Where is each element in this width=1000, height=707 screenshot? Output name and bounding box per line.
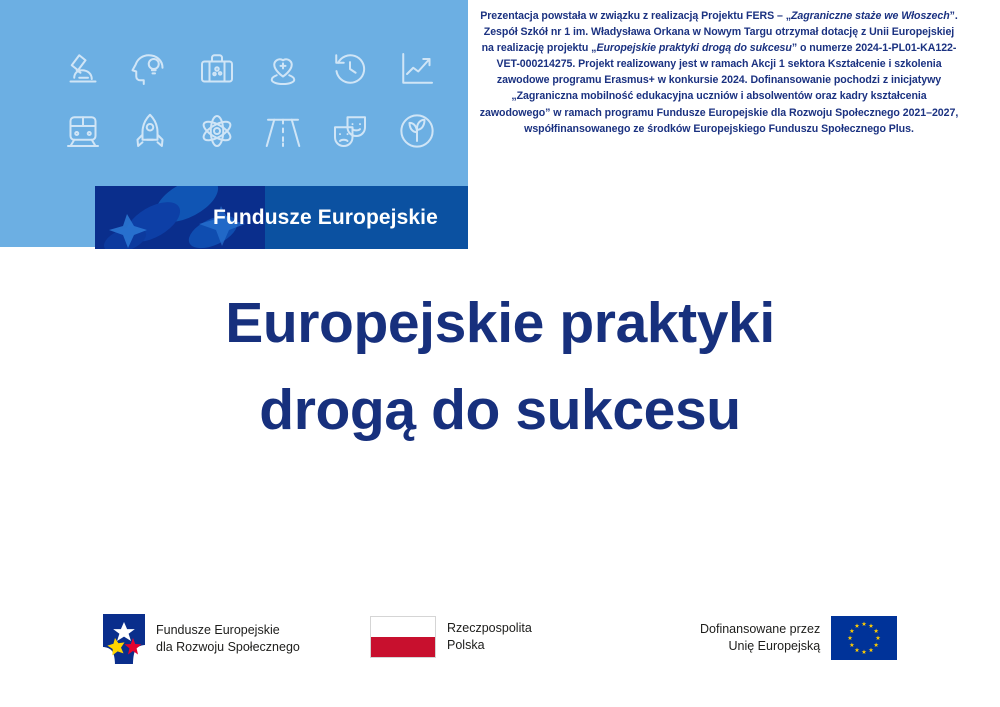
rocket-icon [130,111,170,151]
microscope-icon [63,49,103,89]
footer-logo-strip: Fundusze Europejskie dla Rozwoju Społecz… [0,600,1000,707]
heart-location-pin-icon [263,49,303,89]
theatre-masks-icon [330,111,370,151]
clock-history-icon [330,49,370,89]
page-title-line-2: drogą do sukcesu [95,367,905,454]
logo-rp-caption: Rzeczpospolita Polska [447,620,532,654]
legal-part-3: ” o numerze 2024-1-PL01-KA122-VET-000214… [480,42,958,134]
legal-emphasis-1: Zagraniczne staże we Włoszech [791,10,950,22]
page-title-line-1: Europejskie praktyki [95,280,905,367]
banner-label: Fundusze Europejskie [213,186,438,249]
poland-flag-icon [370,616,436,658]
train-icon [63,111,103,151]
logo-rzeczpospolita-polska: Rzeczpospolita Polska [370,616,532,658]
icon-grid [50,38,450,162]
atom-icon [197,111,237,151]
fundusze-europejskie-logo [103,614,145,664]
logo-eu-caption: Dofinansowane przez Unię Europejską [700,621,820,655]
logo-fundusze-europejskie: Fundusze Europejskie dla Rozwoju Społecz… [103,614,300,664]
logo-unia-europejska: Dofinansowane przez Unię Europejską [700,616,897,660]
growth-chart-icon [397,49,437,89]
leaf-eco-icon [397,111,437,151]
medical-case-icon [197,49,237,89]
page-title: Europejskie praktyki drogą do sukcesu [95,280,905,453]
legal-part-1: Prezentacja powstała w związku z realiza… [480,10,791,22]
head-lightbulb-icon [130,49,170,89]
fundusze-europejskie-banner: Fundusze Europejskie [95,186,468,249]
legal-emphasis-2: Europejskie praktyki drogą do sukcesu [596,42,791,54]
road-icon [263,111,303,151]
legal-disclaimer-text: Prezentacja powstała w związku z realiza… [478,8,960,137]
eu-flag-icon [831,616,897,660]
logo-fe-caption: Fundusze Europejskie dla Rozwoju Społecz… [156,622,300,656]
